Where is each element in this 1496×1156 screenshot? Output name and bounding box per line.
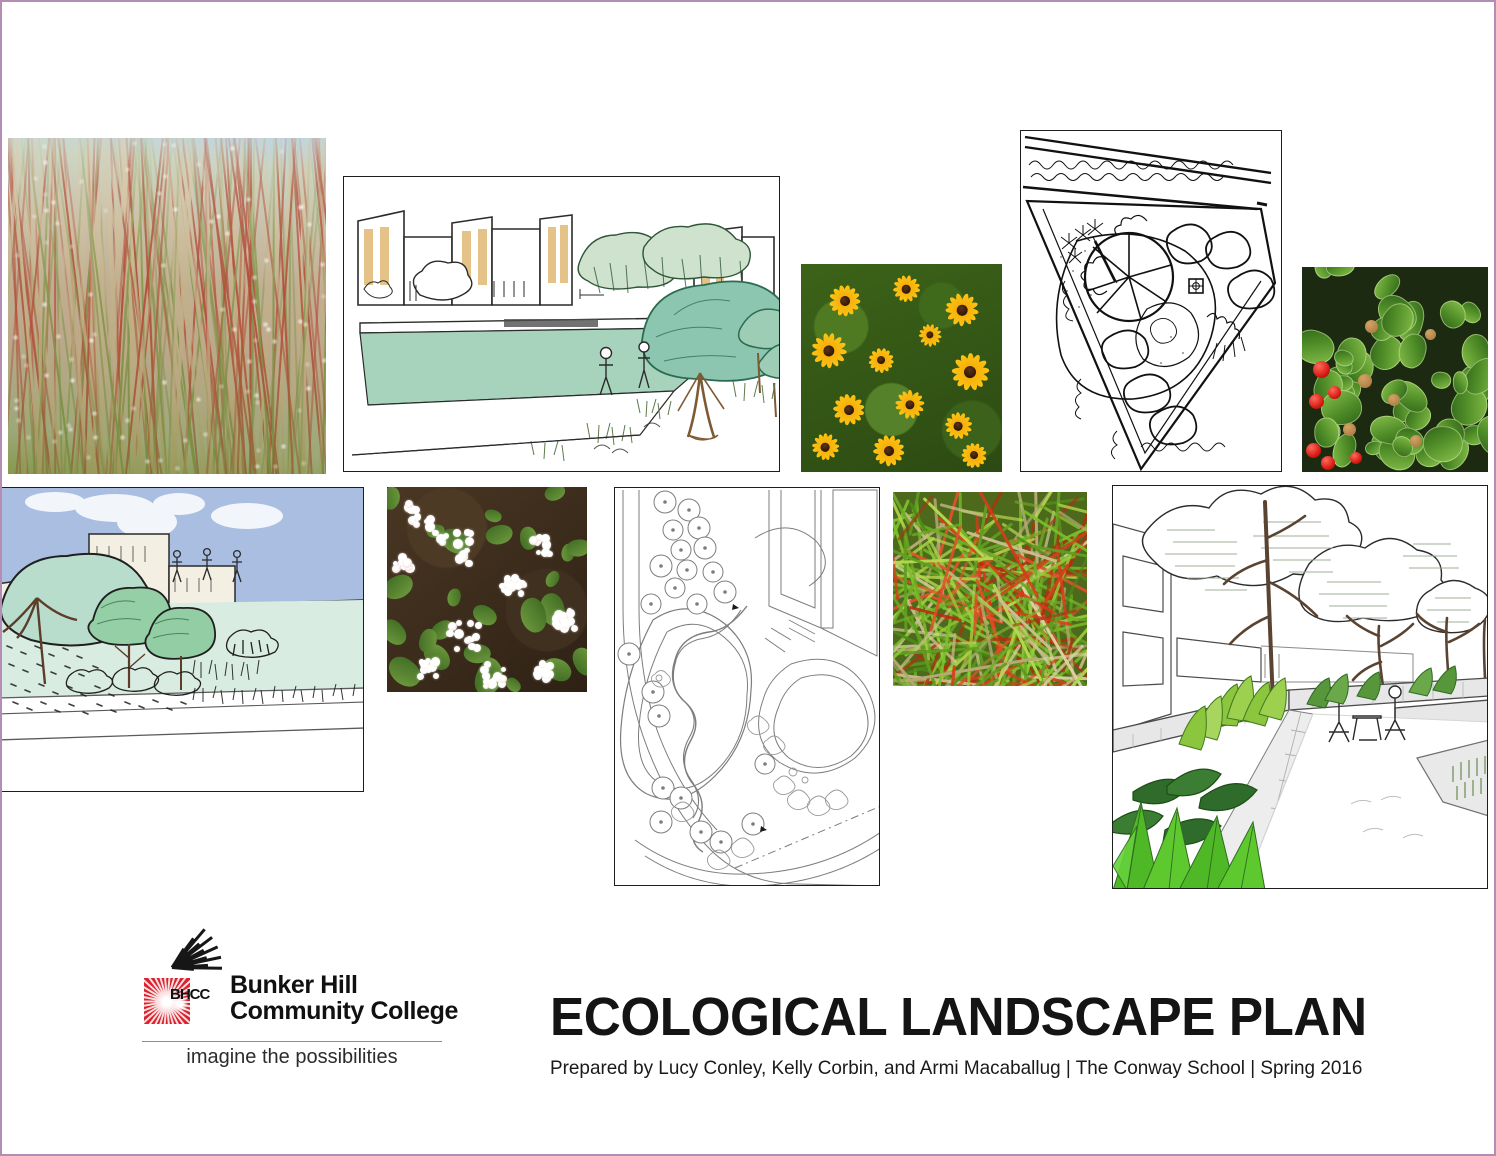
daisy-flower [943, 291, 981, 329]
logo-line-1: Bunker Hill [230, 972, 458, 999]
chokeberry-flower-cluster [479, 659, 509, 689]
planted-terrace-perspective-sketch [0, 487, 364, 792]
bearberry-bud [1343, 423, 1356, 436]
chokeberry-flower-cluster [415, 655, 441, 681]
bearberry-fruit [1350, 452, 1362, 464]
bearberry-fruit [1321, 456, 1335, 470]
black-chokeberry-photo [387, 487, 587, 692]
campus-quad-perspective-sketch [343, 176, 780, 472]
site-plan-svg [1021, 131, 1282, 472]
little-bluestem-grass-photo [8, 138, 326, 474]
chokeberry-flower-cluster [527, 532, 553, 558]
bearberry-leaf [1315, 417, 1340, 447]
daisy-flower [832, 392, 867, 427]
logo-tagline: imagine the possibilities [142, 1046, 442, 1069]
daisy-flower [868, 346, 895, 373]
logo-wordmark: Bunker Hill Community College [230, 972, 458, 1025]
daisy-flower [890, 274, 921, 305]
cover-page: BHCC Bunker Hill Community College imagi… [0, 0, 1496, 1156]
page-title: ECOLOGICAL LANDSCAPE PLAN [550, 990, 1386, 1044]
bearberry-bud [1425, 329, 1436, 340]
grass-blade [940, 503, 989, 518]
bearberry-bud [1358, 374, 1372, 388]
page-subtitle: Prepared by Lucy Conley, Kelly Corbin, a… [550, 1057, 1404, 1080]
bearberry-bud [1388, 394, 1400, 406]
cad-planting-plan [614, 487, 880, 886]
photo-haze-overlay [8, 138, 326, 474]
quad-sketch-svg [344, 177, 780, 472]
switchgrass-photo [893, 492, 1087, 686]
bearberry-leaf [1430, 370, 1452, 389]
chokeberry-flower-cluster [551, 606, 579, 634]
title-block: ECOLOGICAL LANDSCAPE PLAN Prepared by Lu… [550, 990, 1430, 1080]
bearberry-photo [1302, 267, 1488, 472]
hand-drawn-site-plan [1020, 130, 1282, 472]
chokeberry-flower-cluster [531, 659, 555, 683]
logo-letters: BHCC [170, 986, 206, 1024]
chokeberry-flower-cluster [391, 549, 417, 575]
terrace-sketch-svg [0, 488, 364, 792]
courtyard-sketch-svg [1113, 486, 1488, 889]
cad-plan-svg [615, 488, 880, 886]
bearberry-bud [1410, 435, 1422, 447]
chokeberry-flower-cluster [443, 618, 483, 658]
black-eyed-susan-photo [801, 264, 1002, 472]
bunker-hill-community-college-logo: BHCC Bunker Hill Community College imagi… [142, 962, 472, 1069]
bearberry-fruit [1306, 443, 1321, 458]
logo-divider [142, 1041, 442, 1042]
bhcc-logo-mark: BHCC [142, 962, 220, 1034]
logo-line-2: Community College [230, 998, 458, 1025]
cover-footer: BHCC Bunker Hill Community College imagi… [2, 932, 1496, 1132]
bearberry-fruit [1328, 386, 1341, 399]
chokeberry-flower-cluster [431, 528, 475, 572]
chokeberry-flower-cluster [499, 569, 529, 599]
courtyard-perspective-sketch [1112, 485, 1488, 889]
